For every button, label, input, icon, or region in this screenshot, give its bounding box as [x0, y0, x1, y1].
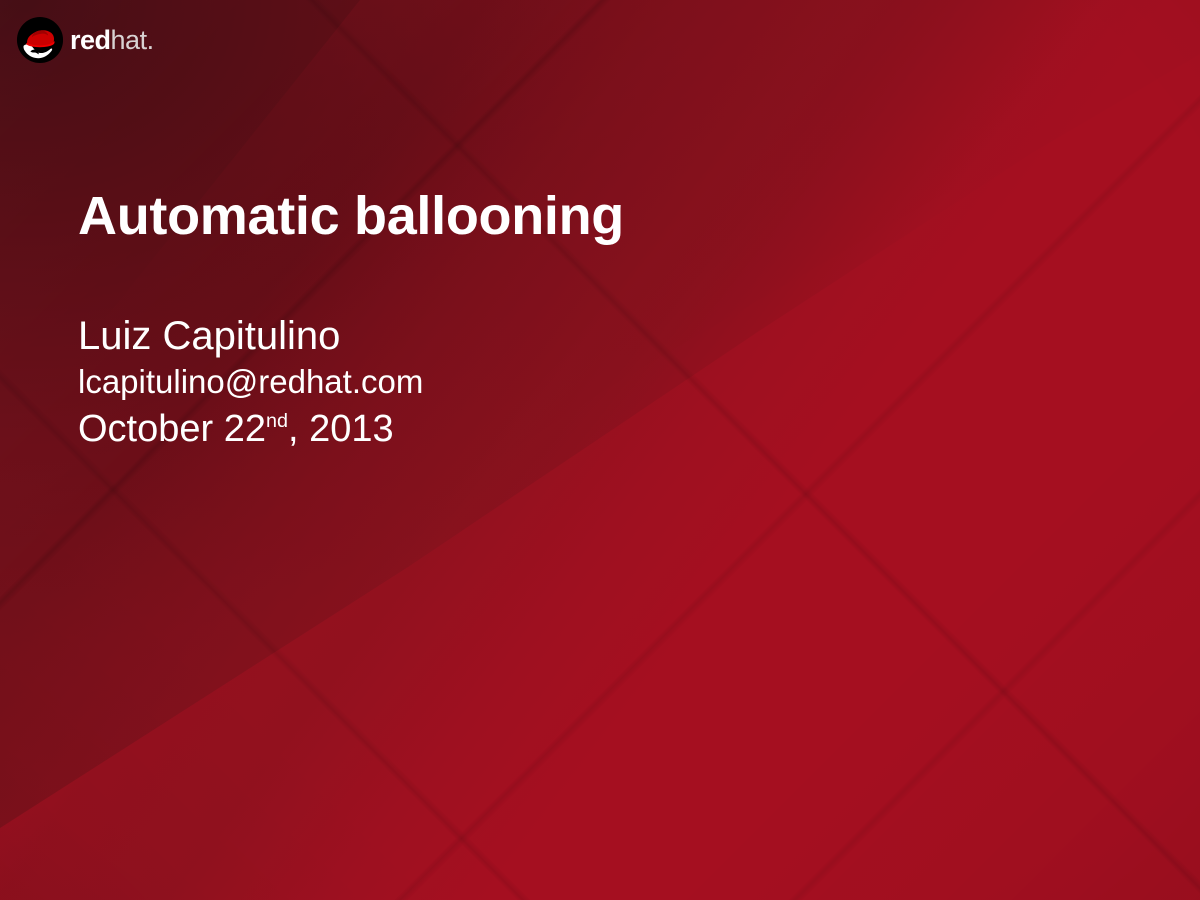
slide-subtitle-block: Luiz Capitulino lcapitulino@redhat.com O…	[78, 313, 1118, 453]
slide-title: Automatic ballooning	[78, 185, 1118, 247]
date-ordinal-suffix: nd	[266, 410, 288, 432]
redhat-wordmark: redhat.	[70, 27, 154, 54]
wordmark-hat: hat.	[111, 25, 154, 55]
title-slide: redhat. Automatic ballooning Luiz Capitu…	[0, 0, 1200, 900]
author-name: Luiz Capitulino	[78, 313, 1118, 359]
presentation-date: October 22nd, 2013	[78, 406, 1118, 453]
date-suffix: , 2013	[288, 408, 394, 450]
wordmark-red: red	[70, 25, 111, 55]
redhat-shadowman-logo-icon	[16, 16, 64, 64]
date-prefix: October 22	[78, 408, 266, 450]
redhat-logo: redhat.	[16, 16, 154, 64]
author-email: lcapitulino@redhat.com	[78, 359, 1118, 406]
